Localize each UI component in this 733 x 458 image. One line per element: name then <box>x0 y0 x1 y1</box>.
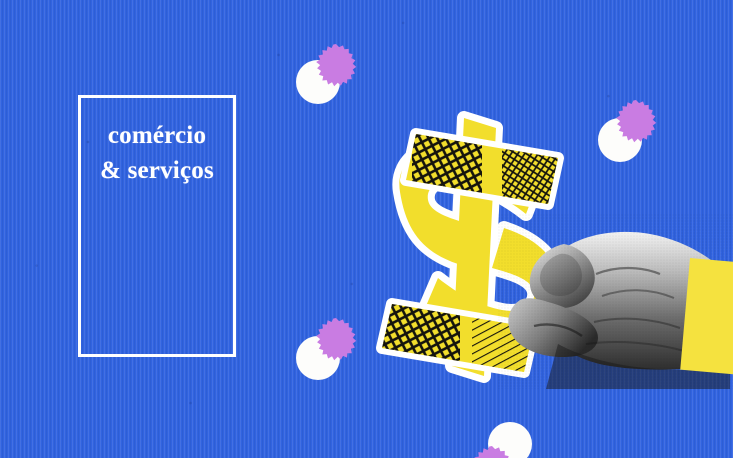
page-title-line-1: comércio <box>78 118 236 153</box>
poster-canvas: comércio & serviços <box>0 0 733 458</box>
dot-cluster-top-right <box>598 100 658 162</box>
dot-cluster-top-left <box>296 44 358 106</box>
yellow-sleeve <box>680 258 733 375</box>
page-title-line-2: & serviços <box>78 153 236 188</box>
page-title: comércio & serviços <box>78 118 236 188</box>
dot-cluster-bottom-edge <box>470 422 532 458</box>
dot-cluster-bottom-left <box>296 318 358 380</box>
